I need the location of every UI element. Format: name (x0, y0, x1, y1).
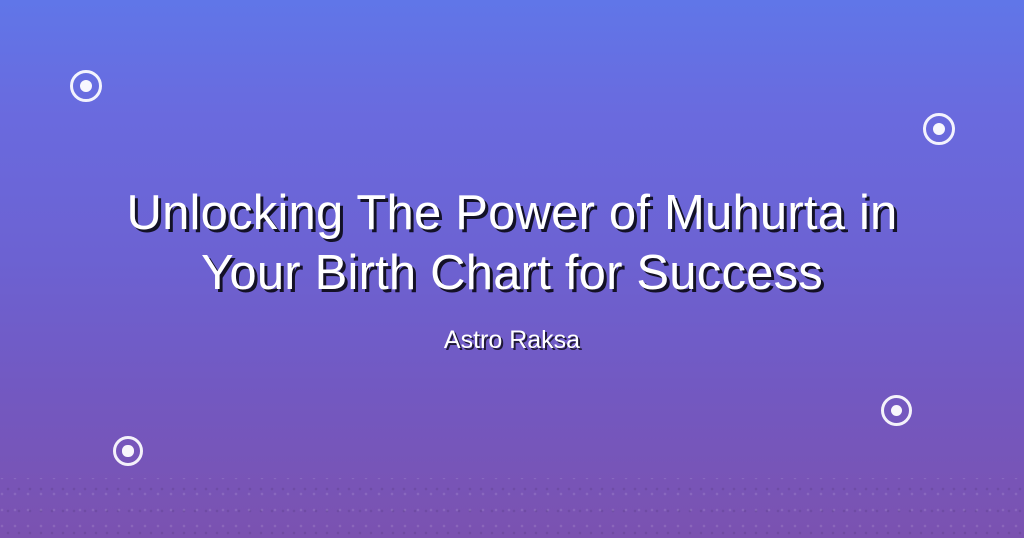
slide-title: Unlocking The Power of Muhurta in Your B… (72, 183, 952, 303)
slide-content: Unlocking The Power of Muhurta in Your B… (0, 0, 1024, 538)
slide-subtitle: Astro Raksa (444, 325, 580, 355)
title-slide: Unlocking The Power of Muhurta in Your B… (0, 0, 1024, 538)
